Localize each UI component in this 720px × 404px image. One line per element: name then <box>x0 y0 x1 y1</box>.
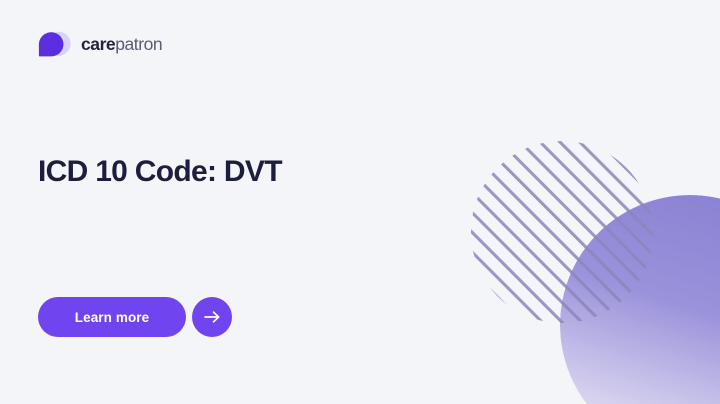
gradient-circle-decoration <box>560 195 720 404</box>
brand-wordmark-bold: care <box>81 36 115 54</box>
brand-wordmark: carepatron <box>81 36 162 54</box>
cta-group: Learn more <box>38 297 232 337</box>
learn-more-arrow-button[interactable] <box>192 297 232 337</box>
brand-logo[interactable]: carepatron <box>38 31 162 58</box>
brand-wordmark-light: patron <box>115 36 162 54</box>
arrow-right-icon <box>204 310 221 324</box>
learn-more-button[interactable]: Learn more <box>38 297 186 337</box>
decoration-artwork <box>0 0 720 404</box>
page-title: ICD 10 Code: DVT <box>38 155 282 190</box>
decoration-layer <box>0 0 720 404</box>
careparton-overlapping-blobs-icon <box>38 31 72 58</box>
striped-circle-decoration <box>460 130 670 340</box>
banner-root: carepatron ICD 10 Code: DVT Learn more <box>0 0 720 404</box>
